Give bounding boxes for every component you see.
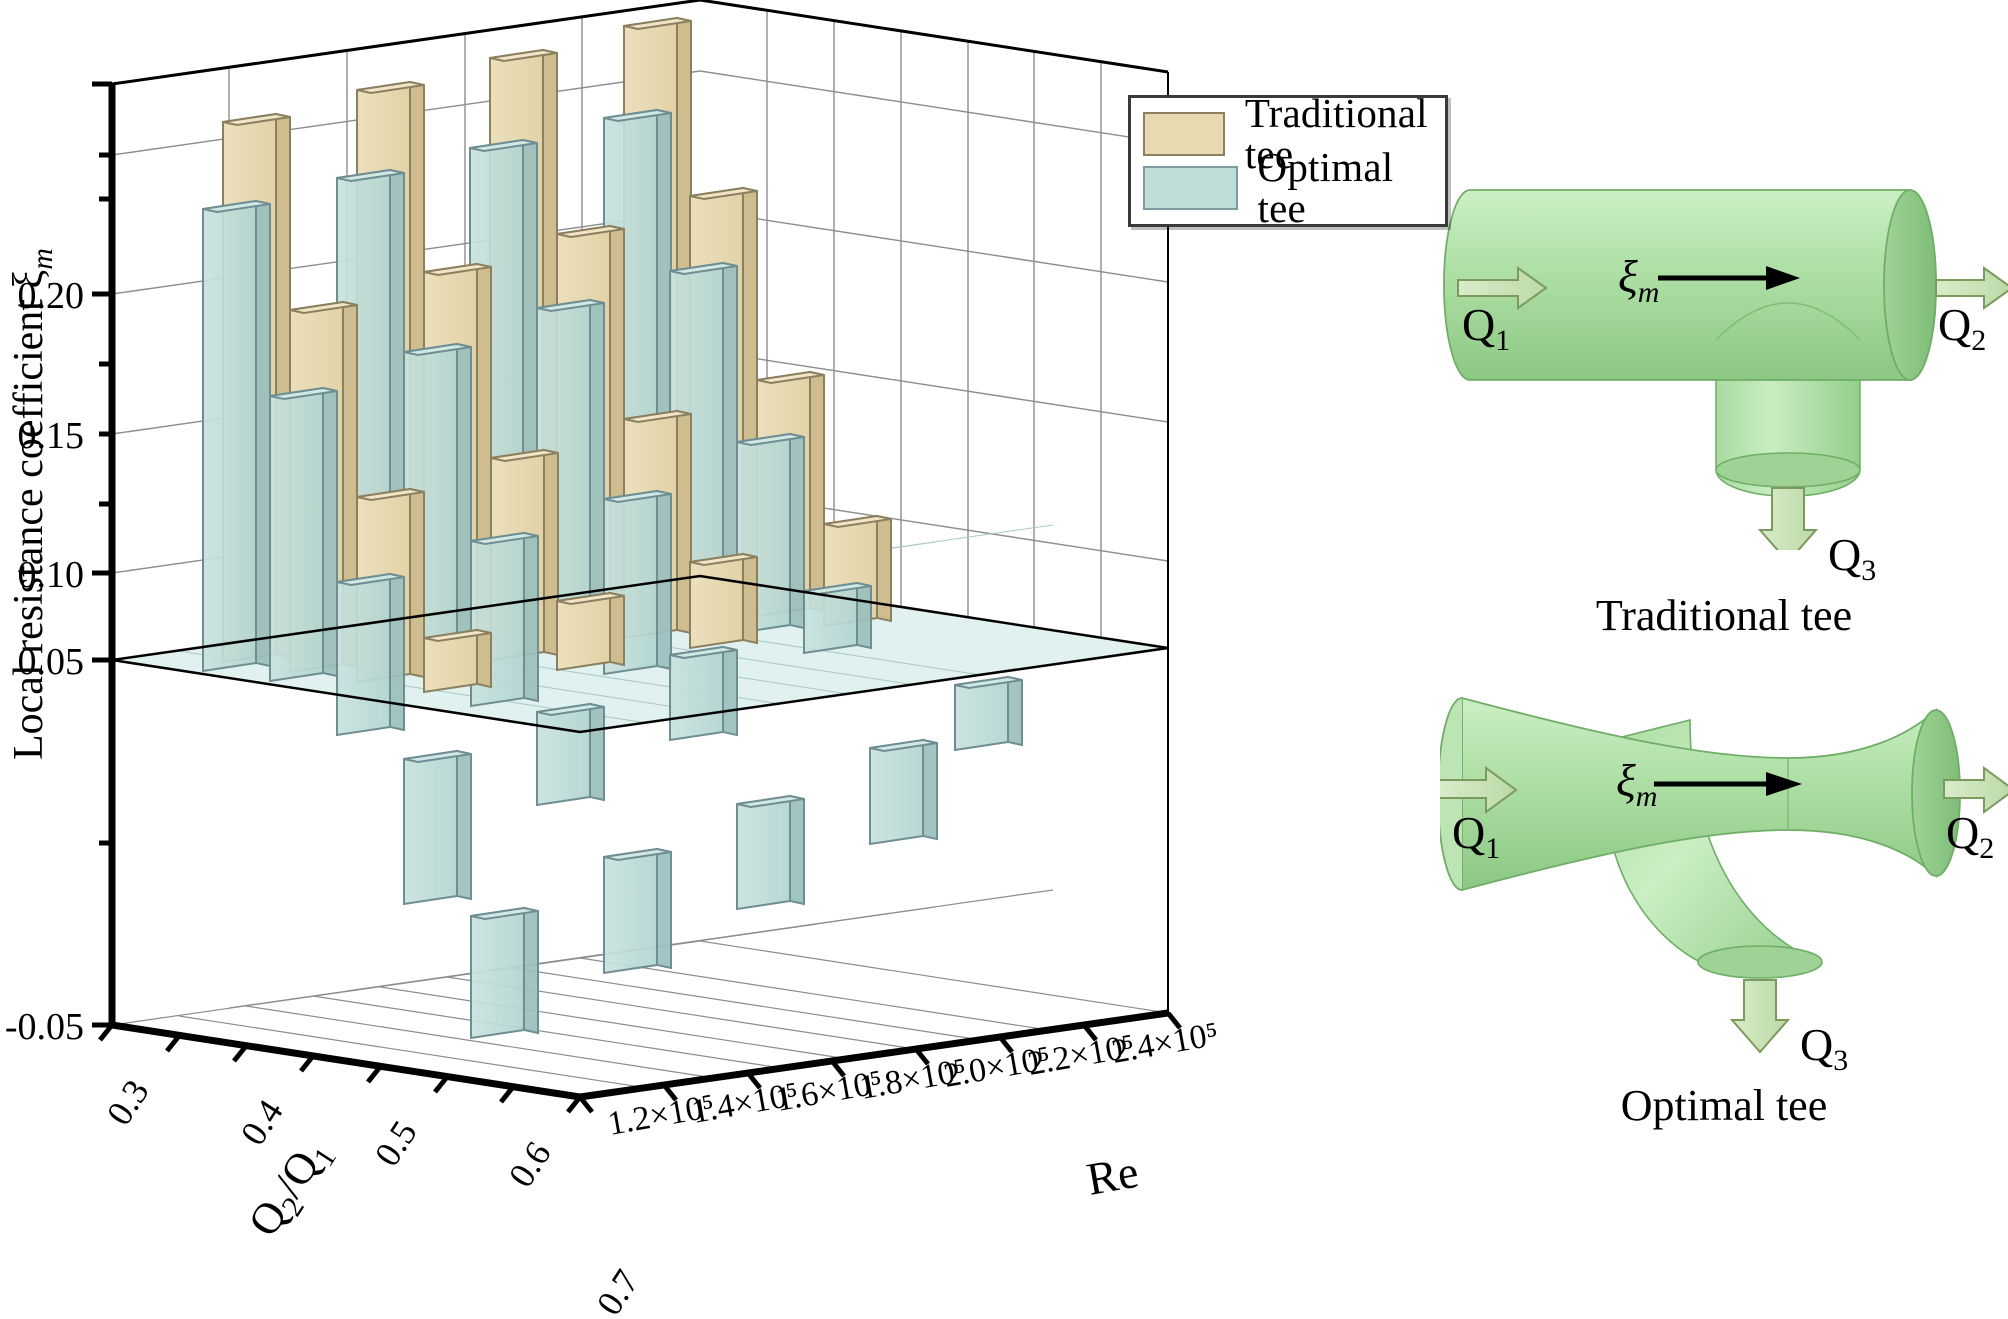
q2-symbol: Q [1938, 299, 1971, 350]
q3-symbol-optimal: Q [1800, 1019, 1833, 1070]
q1-symbol: Q [1462, 299, 1495, 350]
q3-label-optimal: Q3 [1800, 1018, 1848, 1078]
bar-group-0.7-2.0e5 [737, 796, 804, 909]
z-axis-title: Re [1083, 1146, 1142, 1205]
y-axis-title-sub: m [26, 248, 59, 270]
q2-label-traditional: Q2 [1938, 298, 1986, 358]
bar-group-0.7-2.4e5 [870, 740, 937, 844]
xi-label-optimal: ξm [1616, 754, 1657, 814]
legend-item-optimal[interactable]: Optimal tee [1131, 161, 1445, 215]
q3-label-traditional: Q3 [1828, 528, 1876, 588]
q2-subscript: 2 [1971, 324, 1986, 357]
diagram-optimal-tee: ξm Q1 Q2 Q3 Optimal tee [1440, 680, 2008, 1110]
q3-subscript: 3 [1861, 554, 1876, 587]
x-tick-label: 0.6 [501, 1135, 559, 1195]
bar-group-0.7-front [955, 677, 1022, 750]
z-tick-label: 2.4×10⁵ [1109, 1016, 1221, 1071]
diagram-traditional-tee: ξm Q1 Q2 Q3 Traditional tee [1440, 170, 2008, 600]
y-tick-label: -0.05 [5, 1006, 84, 1048]
tee-diagrams: ξm Q1 Q2 Q3 Traditional tee [1440, 170, 2008, 1170]
x-tick-label: 0.5 [367, 1114, 425, 1174]
legend-swatch-optimal [1143, 166, 1238, 210]
caption-optimal-tee: Optimal tee [1440, 1080, 2008, 1131]
x-tick-labels: 0.3 0.4 0.5 0.6 0.7 [99, 1073, 647, 1319]
bar-group-0.7-1.6e5 [604, 849, 671, 973]
q2-symbol-optimal: Q [1946, 807, 1979, 858]
x-tick-label: 0.4 [233, 1093, 291, 1153]
svg-text:Local resistance coefficient ξ: Local resistance coefficient ξm [6, 248, 59, 760]
q1-subscript: 1 [1495, 324, 1510, 357]
x-tick-label: 0.7 [589, 1263, 647, 1319]
legend-swatch-traditional [1143, 112, 1225, 156]
q2-subscript-optimal: 2 [1979, 832, 1994, 865]
legend-label-optimal: Optimal tee [1258, 147, 1445, 229]
q1-symbol-optimal: Q [1452, 807, 1485, 858]
svg-text:Q2/Q1: Q2/Q1 [238, 1129, 343, 1248]
figure-root: 0.20 0.15 0.10 0.05 -0.05 0.10 Local res… [0, 0, 2008, 1319]
chart-legend: Traditional tee Optimal tee [1128, 95, 1448, 227]
q1-subscript-optimal: 1 [1485, 832, 1500, 865]
q3-symbol: Q [1828, 529, 1861, 580]
caption-traditional-tee: Traditional tee [1440, 590, 2008, 641]
xi-symbol-optimal: ξ [1616, 755, 1636, 806]
q1-label-traditional: Q1 [1462, 298, 1510, 358]
q2-label-optimal: Q2 [1946, 806, 1994, 866]
xi-subscript-optimal: m [1636, 780, 1658, 813]
y-axis-title: Local resistance coefficient ξm [6, 248, 59, 760]
bars-group [203, 18, 1022, 1038]
xi-label-traditional: ξm [1618, 250, 1659, 310]
xi-symbol: ξ [1618, 251, 1638, 302]
y-axis-title-text: Local resistance coefficient ξ [6, 270, 52, 760]
bar-group-0.7-1.2e5 [471, 686, 544, 1038]
xi-subscript: m [1638, 276, 1660, 309]
x-tick-label: 0.3 [99, 1073, 157, 1133]
q1-label-optimal: Q1 [1452, 806, 1500, 866]
x-axis-title: Q2/Q1 [238, 1129, 343, 1248]
q3-subscript-optimal: 3 [1833, 1044, 1848, 1077]
